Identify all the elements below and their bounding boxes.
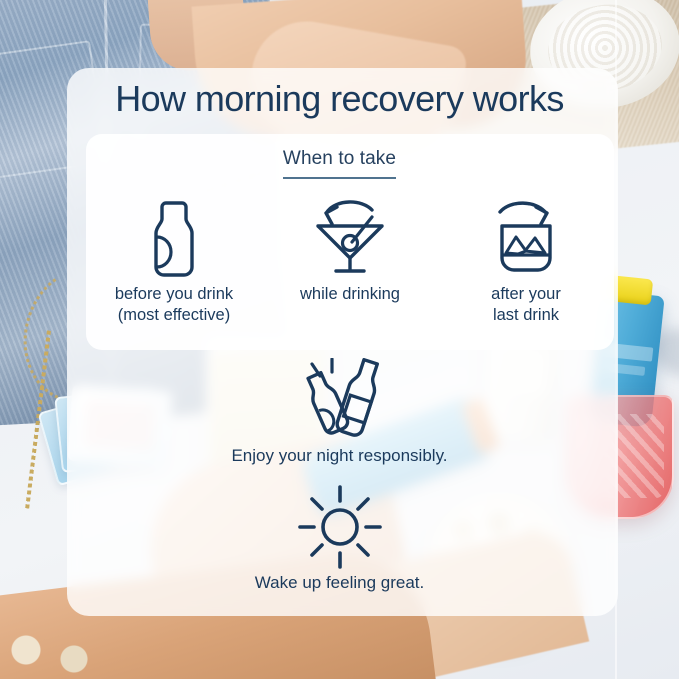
enjoy-caption: Enjoy your night responsibly.	[0, 446, 679, 466]
step-before-you-drink: before you drink (most effective)	[86, 196, 262, 326]
step-after-your-last-drink: after your last drink	[438, 196, 614, 326]
section-heading: When to take	[283, 148, 396, 179]
step-caption-line2: (most effective)	[115, 305, 233, 326]
page-title: How morning recovery works	[0, 78, 679, 120]
step-caption: while drinking	[300, 284, 400, 305]
screenshot-root: How morning recovery works When to take …	[0, 0, 679, 679]
nuts-spill	[0, 632, 110, 679]
supplement-bottle-icon	[146, 196, 202, 278]
steps-row: before you drink (most effective) while	[86, 196, 614, 326]
step-caption: after your last drink	[491, 284, 561, 326]
martini-glass-icon	[310, 196, 390, 278]
subtitle-container: When to take	[0, 148, 679, 179]
wake-up-caption: Wake up feeling great.	[0, 573, 679, 593]
step-caption-line1: before you drink	[115, 284, 233, 305]
wake-up-block: Wake up feeling great.	[0, 483, 679, 593]
step-while-drinking: while drinking	[262, 196, 438, 326]
enjoy-your-night-block: Enjoy your night responsibly.	[0, 358, 679, 466]
step-caption-line1: after your	[491, 284, 561, 305]
step-caption-line2: last drink	[491, 305, 561, 326]
clinking-bottles-icon	[0, 358, 679, 444]
step-caption: before you drink (most effective)	[115, 284, 233, 326]
step-caption-line1: while drinking	[300, 284, 400, 305]
rocks-glass-ice-icon	[488, 196, 564, 278]
sun-icon	[0, 483, 679, 571]
